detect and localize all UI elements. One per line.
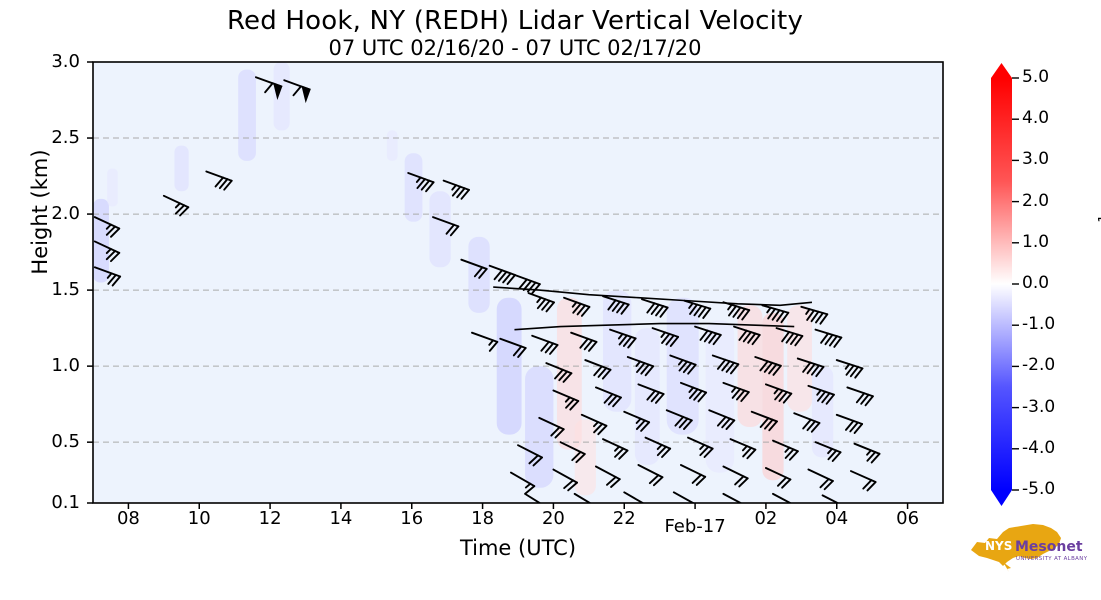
colorbar-tick-label: 5.0 [1022,67,1049,87]
page-title: Red Hook, NY (REDH) Lidar Vertical Veloc… [0,6,1030,36]
x-axis-label: Time (UTC) [93,536,943,560]
shading-cell [387,130,398,160]
figure-canvas: Red Hook, NY (REDH) Lidar Vertical Veloc… [0,0,1101,600]
shading-cell [468,237,489,313]
shading-cell [706,321,734,473]
x-tick-label: 14 [301,508,381,529]
x-tick-label: 22 [584,508,664,529]
colorbar-tick-label: 1.0 [1022,232,1049,252]
x-tick-label: 12 [230,508,310,529]
colorbar-tick-label: -1.0 [1022,314,1055,334]
colorbar-tick-label: -3.0 [1022,397,1055,417]
barb-half [639,504,643,508]
shading-cell [575,419,596,495]
x-tick-label: 06 [868,508,948,529]
x-tick-label: 02 [726,508,806,529]
barb-full [689,505,698,513]
colorbar-extend-min [991,490,1012,506]
svg-text:UNIVERSITY AT ALBANY: UNIVERSITY AT ALBANY [1016,556,1088,562]
colorbar-tick-label: 2.0 [1022,191,1049,211]
y-tick-label: 1.0 [28,355,80,376]
colorbar-tick-label: -4.0 [1022,438,1055,458]
y-tick-label: 2.5 [28,127,80,148]
colorbar-label: m s⁻¹ [1094,182,1101,302]
colorbar-tick-label: 0.0 [1022,273,1049,293]
shading-cell [107,168,118,206]
x-tick-label: 18 [443,508,523,529]
shading-cell [174,146,188,192]
colorbar-extend-max [991,63,1012,78]
svg-text:Mesonet: Mesonet [1015,539,1083,555]
colorbar-gradient [991,78,1012,490]
page-subtitle: 07 UTC 02/16/20 - 07 UTC 02/17/20 [0,36,1030,60]
shading-cell [405,153,423,221]
shading-cell [274,62,290,130]
colorbar-ticks [1012,78,1019,490]
shading-cell [525,366,553,488]
shading-cell [238,70,256,161]
colorbar-tick-label: -2.0 [1022,355,1055,375]
shading-cell [812,366,833,457]
y-tick-label: 0.1 [28,492,80,513]
colorbar-tick-label: 4.0 [1022,108,1049,128]
y-tick-label: 2.0 [28,203,80,224]
colorbar-tick-label: -5.0 [1022,479,1055,499]
y-tick-label: 1.5 [28,279,80,300]
y-tick-label: 0.5 [28,431,80,452]
svg-text:NYS: NYS [985,539,1012,553]
x-tick-label: 16 [372,508,452,529]
shading-cell [429,191,450,267]
colorbar-tick-label: 3.0 [1022,149,1049,169]
x-tick-label: 04 [797,508,877,529]
x-tick-label: 10 [159,508,239,529]
x-tick-label: 08 [88,508,168,529]
y-tick-label: 3.0 [28,51,80,72]
x-tick-label: 20 [513,508,593,529]
x-tick-label: Feb-17 [655,516,735,537]
shading-cell [762,313,783,480]
shading-cell [603,290,631,412]
nys-mesonet-logo: NYS Mesonet UNIVERSITY AT ALBANY [963,518,1095,574]
